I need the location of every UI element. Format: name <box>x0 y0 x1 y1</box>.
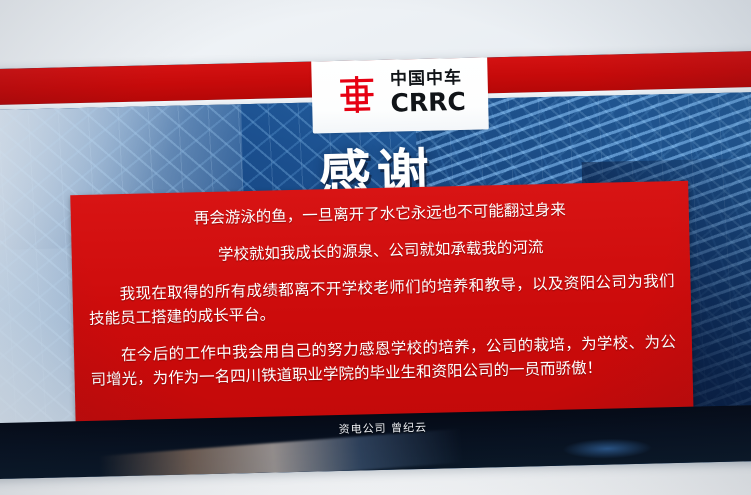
crrc-train-logo-icon <box>334 71 381 118</box>
content-paragraph-3: 我现在取得的所有成绩都离不开学校老师们的培养和教导，以及资阳公司为我们技能员工搭… <box>88 269 675 331</box>
content-paragraph-4: 在今后的工作中我会用自己的努力感恩学校的培养，公司的栽培，为学校、为公司增光，为… <box>90 330 677 392</box>
crrc-logo-name-cn: 中国中车 <box>390 70 466 89</box>
content-paragraph-2: 学校就如我成长的源泉、公司就如承载我的河流 <box>87 232 673 270</box>
crrc-logo-wordmark: 中国中车 CRRC <box>390 70 466 116</box>
red-content-box: 再会游泳的鱼，一旦离开了水它永远也不可能翻过身来 学校就如我成长的源泉、公司就如… <box>70 181 694 445</box>
presentation-slide: 中国中车 CRRC 感谢 再会游泳的鱼，一旦离开了水它永远也不可能翻过身来 学校… <box>0 51 751 479</box>
content-paragraph-1: 再会游泳的鱼，一旦离开了水它永远也不可能翻过身来 <box>87 195 673 233</box>
footer-glow <box>562 438 652 460</box>
screenshot-stage: 中国中车 CRRC 感谢 再会游泳的鱼，一旦离开了水它永远也不可能翻过身来 学校… <box>0 0 751 495</box>
crrc-logo-name-en: CRRC <box>390 89 466 116</box>
crrc-logo-plate: 中国中车 CRRC <box>311 53 489 133</box>
